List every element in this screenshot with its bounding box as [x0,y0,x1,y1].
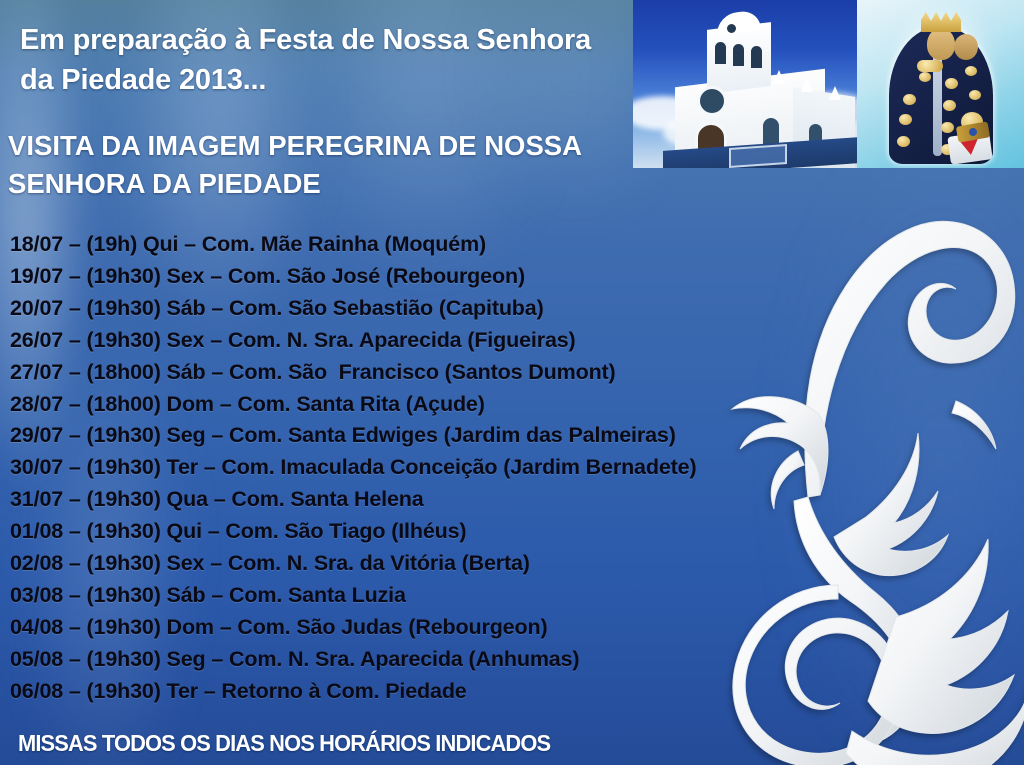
statue-photo [857,0,1024,168]
list-item: 05/08 – (19h30) Seg – Com. N. Sra. Apare… [10,644,1010,676]
statue-gold-ornament [965,66,977,76]
church-pinnacle [801,78,813,92]
list-item: 04/08 – (19h30) Dom – Com. São Judas (Re… [10,612,1010,644]
statue-gold-ornament [941,122,954,133]
slide-subtitle: Em preparação à Festa de Nossa Senhora d… [20,20,620,100]
church-tower-oculus [727,24,736,33]
church-belfry-opening [733,44,744,66]
schedule-list: 18/07 – (19h) Qui – Com. Mãe Rainha (Moq… [10,229,1010,708]
statue-gold-ornament [917,60,943,72]
list-item: 01/08 – (19h30) Qui – Com. São Tiago (Il… [10,516,1010,548]
list-item: 31/07 – (19h30) Qua – Com. Santa Helena [10,484,1010,516]
statue-gold-ornament [943,100,956,111]
statue-child-figure [954,34,978,60]
statue-gold-ornament [897,136,910,147]
slide-canvas: Em preparação à Festa de Nossa Senhora d… [0,0,1024,765]
church-pinnacle [829,86,841,100]
statue-gold-ornament [899,114,912,125]
church-rose-window [697,86,727,116]
church-belfry-opening [751,46,762,68]
list-item: 30/07 – (19h30) Ter – Com. Imaculada Con… [10,452,1010,484]
list-item: 28/07 – (18h00) Dom – Com. Santa Rita (A… [10,389,1010,421]
church-pinnacle [773,70,785,84]
church-belfry-opening [715,42,726,64]
list-item: 26/07 – (19h30) Sex – Com. N. Sra. Apare… [10,325,1010,357]
list-item: 03/08 – (19h30) Sáb – Com. Santa Luzia [10,580,1010,612]
list-item: 20/07 – (19h30) Sáb – Com. São Sebastião… [10,293,1010,325]
footer-note: MISSAS TODOS OS DIAS NOS HORÁRIOS INDICA… [18,730,550,757]
page-title: VISITA DA IMAGEM PEREGRINA DE NOSSA SENH… [8,127,628,203]
statue-virgin-face [927,28,955,60]
statue-gold-ornament [903,94,916,105]
church-photo [633,0,857,168]
list-item: 19/07 – (19h30) Sex – Com. São José (Reb… [10,261,1010,293]
list-item: 02/08 – (19h30) Sex – Com. N. Sra. da Vi… [10,548,1010,580]
statue-gold-ornament [969,90,981,100]
list-item: 27/07 – (18h00) Sáb – Com. São Francisco… [10,357,1010,389]
list-item: 06/08 – (19h30) Ter – Retorno à Com. Pie… [10,676,1010,708]
church-railing [729,144,787,168]
list-item: 18/07 – (19h) Qui – Com. Mãe Rainha (Moq… [10,229,1010,261]
statue-gold-ornament [945,78,958,89]
statue-gold-ornament [919,72,931,82]
list-item: 29/07 – (19h30) Seg – Com. Santa Edwiges… [10,420,1010,452]
